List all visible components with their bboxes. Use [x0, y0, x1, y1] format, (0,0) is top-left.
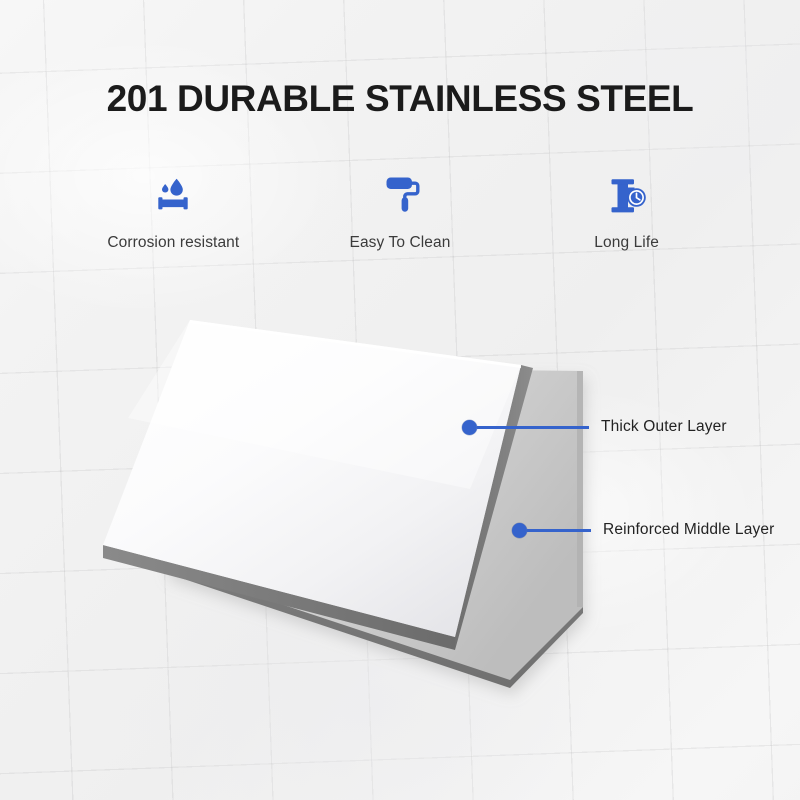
- callout-label: Thick Outer Layer: [601, 418, 727, 436]
- callout-dot-icon: [462, 420, 477, 435]
- callout-label: Reinforced Middle Layer: [603, 521, 774, 539]
- stainless-steel-plates-illustration: [0, 0, 800, 800]
- callout-thick-outer-layer[interactable]: Thick Outer Layer: [462, 418, 727, 436]
- callout-reinforced-middle-layer[interactable]: Reinforced Middle Layer: [512, 521, 774, 539]
- callout-leader-line: [527, 529, 591, 532]
- infographic-canvas: 201 DURABLE STAINLESS STEEL Corrosion re…: [0, 0, 800, 800]
- thick-outer-layer-plate: [103, 320, 533, 650]
- callout-leader-line: [477, 426, 589, 429]
- callout-dot-icon: [512, 523, 527, 538]
